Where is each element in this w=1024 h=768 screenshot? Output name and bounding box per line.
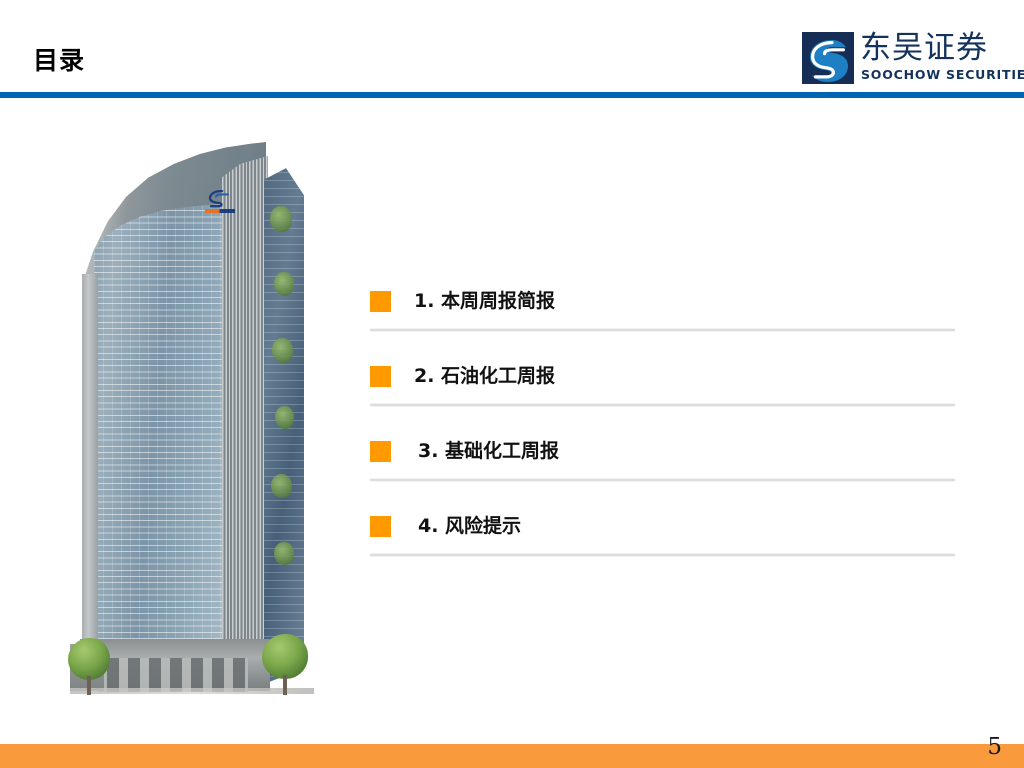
wing-reflection-tree-5 <box>271 474 292 498</box>
slide-root: 目录 东吴证券 SOOCHOW SECURITIES <box>0 0 1024 768</box>
building-left-stone-edge <box>82 274 98 690</box>
building-facade-sign <box>204 190 238 216</box>
facade-sign-swirl-icon <box>207 190 231 208</box>
facade-sign-bar <box>205 209 235 213</box>
table-of-contents: 1. 本周周报简报 2. 石油化工周报 3. 基础化工周报 4. 风险提示 <box>370 283 955 573</box>
page-title: 目录 <box>33 48 85 73</box>
wing-reflection-tree-4 <box>275 406 294 429</box>
building-right-glass-wing <box>264 164 304 684</box>
toc-item-2[interactable]: 2. 石油化工周报 <box>370 358 955 420</box>
toc-bullet-square-icon <box>370 366 391 387</box>
building-mullion-strip <box>222 156 268 690</box>
footer-bar <box>0 744 1024 768</box>
toc-divider-3 <box>370 478 955 482</box>
header-divider <box>0 92 1024 98</box>
building-glass-curtain-wall <box>94 204 226 674</box>
toc-divider-2 <box>370 403 955 407</box>
wing-reflection-tree-3 <box>272 338 293 363</box>
toc-item-3-label: 3. 基础化工周报 <box>418 433 559 469</box>
toc-item-4[interactable]: 4. 风险提示 <box>370 508 955 570</box>
logo-english-name: SOOCHOW SECURITIES <box>861 68 1024 82</box>
toc-item-2-label: 2. 石油化工周报 <box>414 358 555 394</box>
toc-bullet-square-icon <box>370 291 391 312</box>
soochow-swirl-icon <box>802 32 854 84</box>
building-entrance-columns <box>98 658 248 692</box>
foreground-tree-right <box>262 634 308 696</box>
wing-reflection-tree-2 <box>274 272 294 296</box>
toc-item-4-label: 4. 风险提示 <box>418 508 521 544</box>
headquarters-building-image <box>62 142 332 707</box>
building-illustration <box>62 142 332 707</box>
brand-logo: 东吴证券 SOOCHOW SECURITIES <box>802 31 1012 87</box>
toc-divider-4 <box>370 553 955 557</box>
foreground-tree-left <box>68 638 110 696</box>
toc-bullet-square-icon <box>370 441 391 462</box>
logo-chinese-name: 东吴证券 <box>860 30 988 66</box>
toc-item-1-label: 1. 本周周报简报 <box>414 283 555 319</box>
toc-bullet-square-icon <box>370 516 391 537</box>
toc-divider-1 <box>370 328 955 332</box>
wing-reflection-tree-1 <box>270 206 292 232</box>
page-number: 5 <box>987 735 1002 759</box>
toc-item-1[interactable]: 1. 本周周报简报 <box>370 283 955 345</box>
wing-reflection-tree-6 <box>274 542 294 565</box>
toc-item-3[interactable]: 3. 基础化工周报 <box>370 433 955 495</box>
slide-header: 目录 东吴证券 SOOCHOW SECURITIES <box>0 0 1024 92</box>
